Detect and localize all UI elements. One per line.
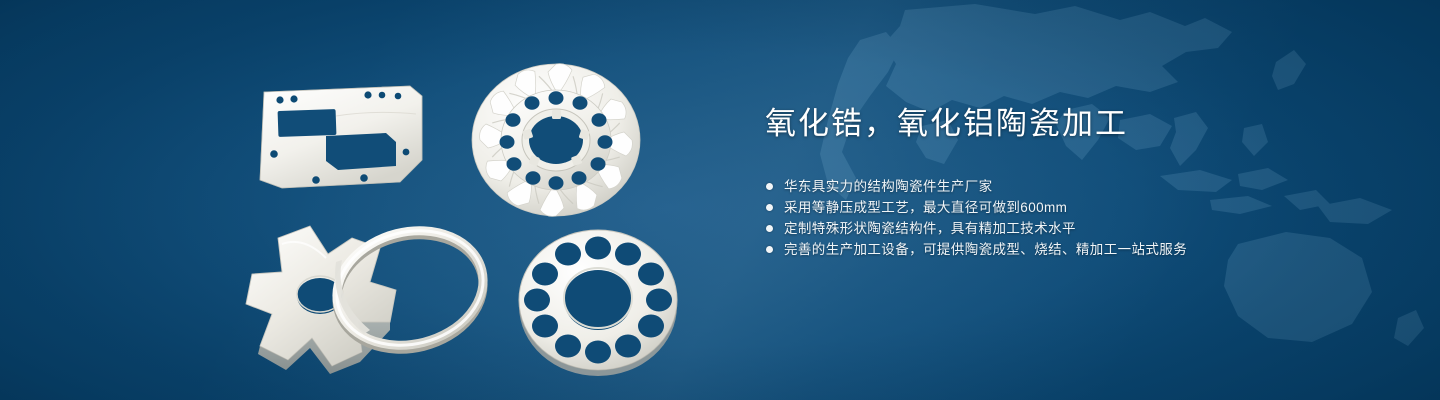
list-item-label: 完善的生产加工设备，可提供陶瓷成型、烧结、精加工一站式服务 <box>784 239 1187 260</box>
bullet-dot-icon <box>766 246 773 253</box>
ceramic-perforated-disc <box>519 230 677 376</box>
page-title: 氧化锆，氧化铝陶瓷加工 <box>765 104 1385 144</box>
list-item: 华东具实力的结构陶瓷件生产厂家 <box>765 176 1385 197</box>
list-item-label: 华东具实力的结构陶瓷件生产厂家 <box>784 176 993 197</box>
bullet-dot-icon <box>766 225 773 232</box>
list-item: 定制特殊形状陶瓷结构件，具有精加工技术水平 <box>765 218 1385 239</box>
ceramic-plate-with-cutouts <box>260 86 422 188</box>
bullet-dot-icon <box>766 204 773 211</box>
ceramic-impeller-disc <box>472 64 640 217</box>
list-item: 采用等静压成型工艺，最大直径可做到600mm <box>765 197 1385 218</box>
ceramic-products-image <box>210 30 730 380</box>
bullet-dot-icon <box>766 183 773 190</box>
hero-banner: 氧化锆，氧化铝陶瓷加工 华东具实力的结构陶瓷件生产厂家 采用等静压成型工艺，最大… <box>0 0 1440 400</box>
banner-copy: 氧化锆，氧化铝陶瓷加工 华东具实力的结构陶瓷件生产厂家 采用等静压成型工艺，最大… <box>765 104 1385 260</box>
list-item-label: 采用等静压成型工艺，最大直径可做到600mm <box>784 197 1067 218</box>
list-item-label: 定制特殊形状陶瓷结构件，具有精加工技术水平 <box>784 218 1076 239</box>
feature-list: 华东具实力的结构陶瓷件生产厂家 采用等静压成型工艺，最大直径可做到600mm 定… <box>765 176 1385 260</box>
list-item: 完善的生产加工设备，可提供陶瓷成型、烧结、精加工一站式服务 <box>765 239 1385 260</box>
